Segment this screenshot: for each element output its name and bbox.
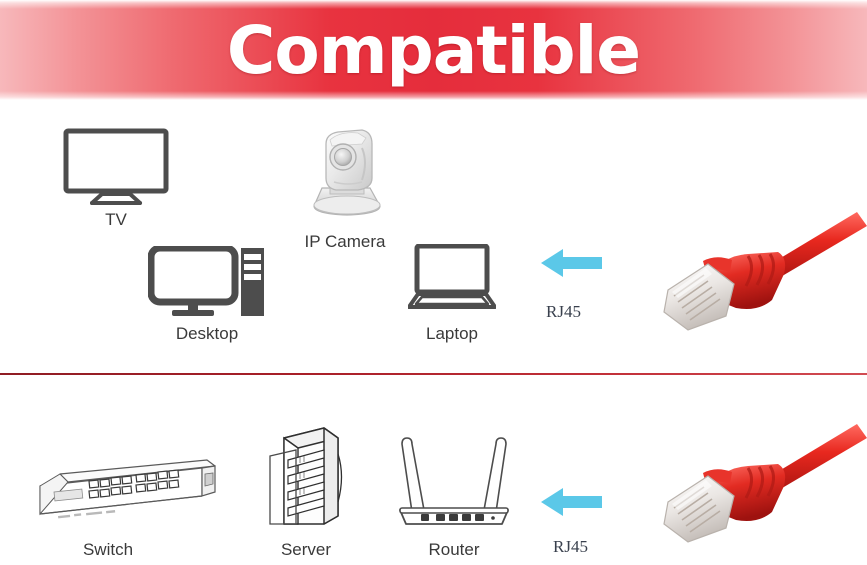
- ip-camera-icon: [300, 122, 390, 222]
- server-rack-icon: [266, 424, 346, 532]
- rj45-patch-cable-top: [660, 212, 867, 337]
- switch-label: Switch: [52, 540, 164, 560]
- desktop-icon: [148, 246, 266, 318]
- desktop-label: Desktop: [148, 324, 266, 344]
- server-label: Server: [256, 540, 356, 560]
- header-banner: Compatible: [0, 0, 867, 100]
- section-divider: [0, 373, 867, 375]
- router-label: Router: [394, 540, 514, 560]
- tv-label: TV: [62, 210, 170, 230]
- page-title: Compatible: [0, 0, 867, 100]
- ip-camera-label: IP Camera: [290, 232, 400, 252]
- compatibility-infographic: Compatible TV Desktop: [0, 0, 867, 565]
- arrow-left-icon-bottom: [541, 484, 603, 520]
- router-icon: [394, 430, 514, 528]
- laptop-icon: [408, 244, 496, 310]
- rj45-label-bottom: RJ45: [553, 537, 588, 557]
- network-switch-icon: [32, 452, 222, 532]
- laptop-label: Laptop: [400, 324, 504, 344]
- tv-icon: [62, 128, 170, 206]
- arrow-left-icon: [541, 245, 603, 281]
- rj45-label-top: RJ45: [546, 302, 581, 322]
- rj45-patch-cable-bottom: [660, 422, 867, 552]
